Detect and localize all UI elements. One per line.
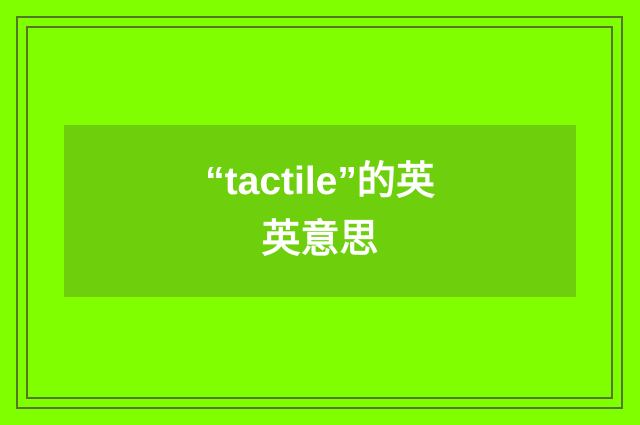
poster-canvas: “tactile”的英英意思 bbox=[0, 0, 640, 425]
page-title: “tactile”的英英意思 bbox=[190, 153, 450, 268]
title-plate: “tactile”的英英意思 bbox=[64, 125, 576, 297]
